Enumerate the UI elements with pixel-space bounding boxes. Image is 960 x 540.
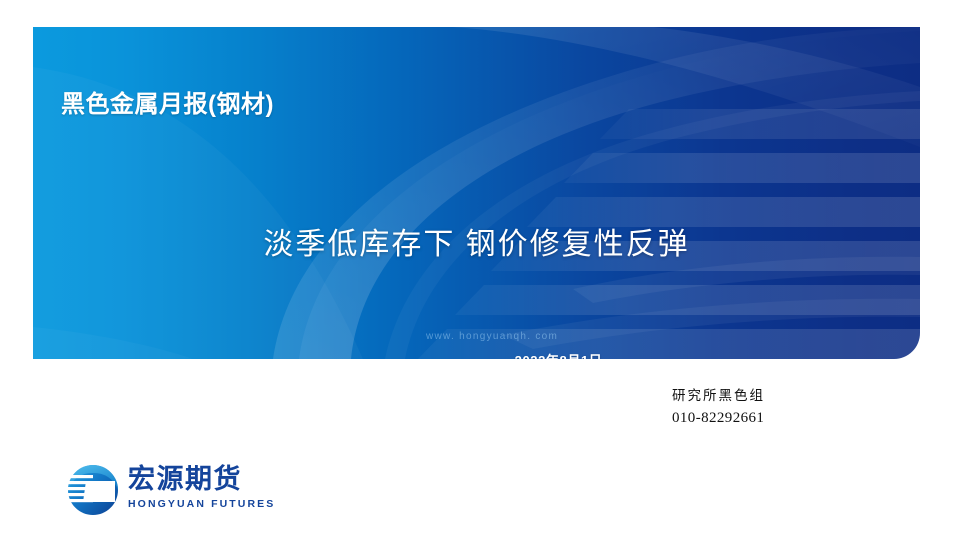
logo-name-en: HONGYUAN FUTURES — [128, 497, 292, 511]
website-watermark: www. hongyuanqh. com — [426, 331, 558, 342]
publish-date-row: 2022年8月1日 — [33, 350, 920, 359]
headline: 淡季低库存下 钢价修复性反弹 — [33, 219, 920, 263]
hero-banner: 黑色金属月报(钢材) 淡季低库存下 钢价修复性反弹 www. hongyuanq… — [33, 27, 920, 359]
hongyuan-emblem-icon — [62, 464, 124, 516]
logo-name-cn: 宏源期货 — [128, 464, 292, 495]
publish-date: 2022年8月1日 — [515, 353, 603, 359]
contact-block: 研究所黑色组 010-82292661 — [672, 385, 765, 429]
company-logo: 宏源期货 HONGYUAN FUTURES — [62, 462, 292, 520]
slide-root: 黑色金属月报(钢材) 淡季低库存下 钢价修复性反弹 www. hongyuanq… — [0, 0, 960, 540]
contact-phone: 010-82292661 — [672, 407, 765, 429]
research-department: 研究所黑色组 — [672, 385, 765, 407]
hero-background-graphic — [33, 27, 920, 359]
page-title: 黑色金属月报(钢材) — [61, 84, 274, 119]
logo-wordmark: 宏源期货 HONGYUAN FUTURES — [128, 464, 292, 511]
